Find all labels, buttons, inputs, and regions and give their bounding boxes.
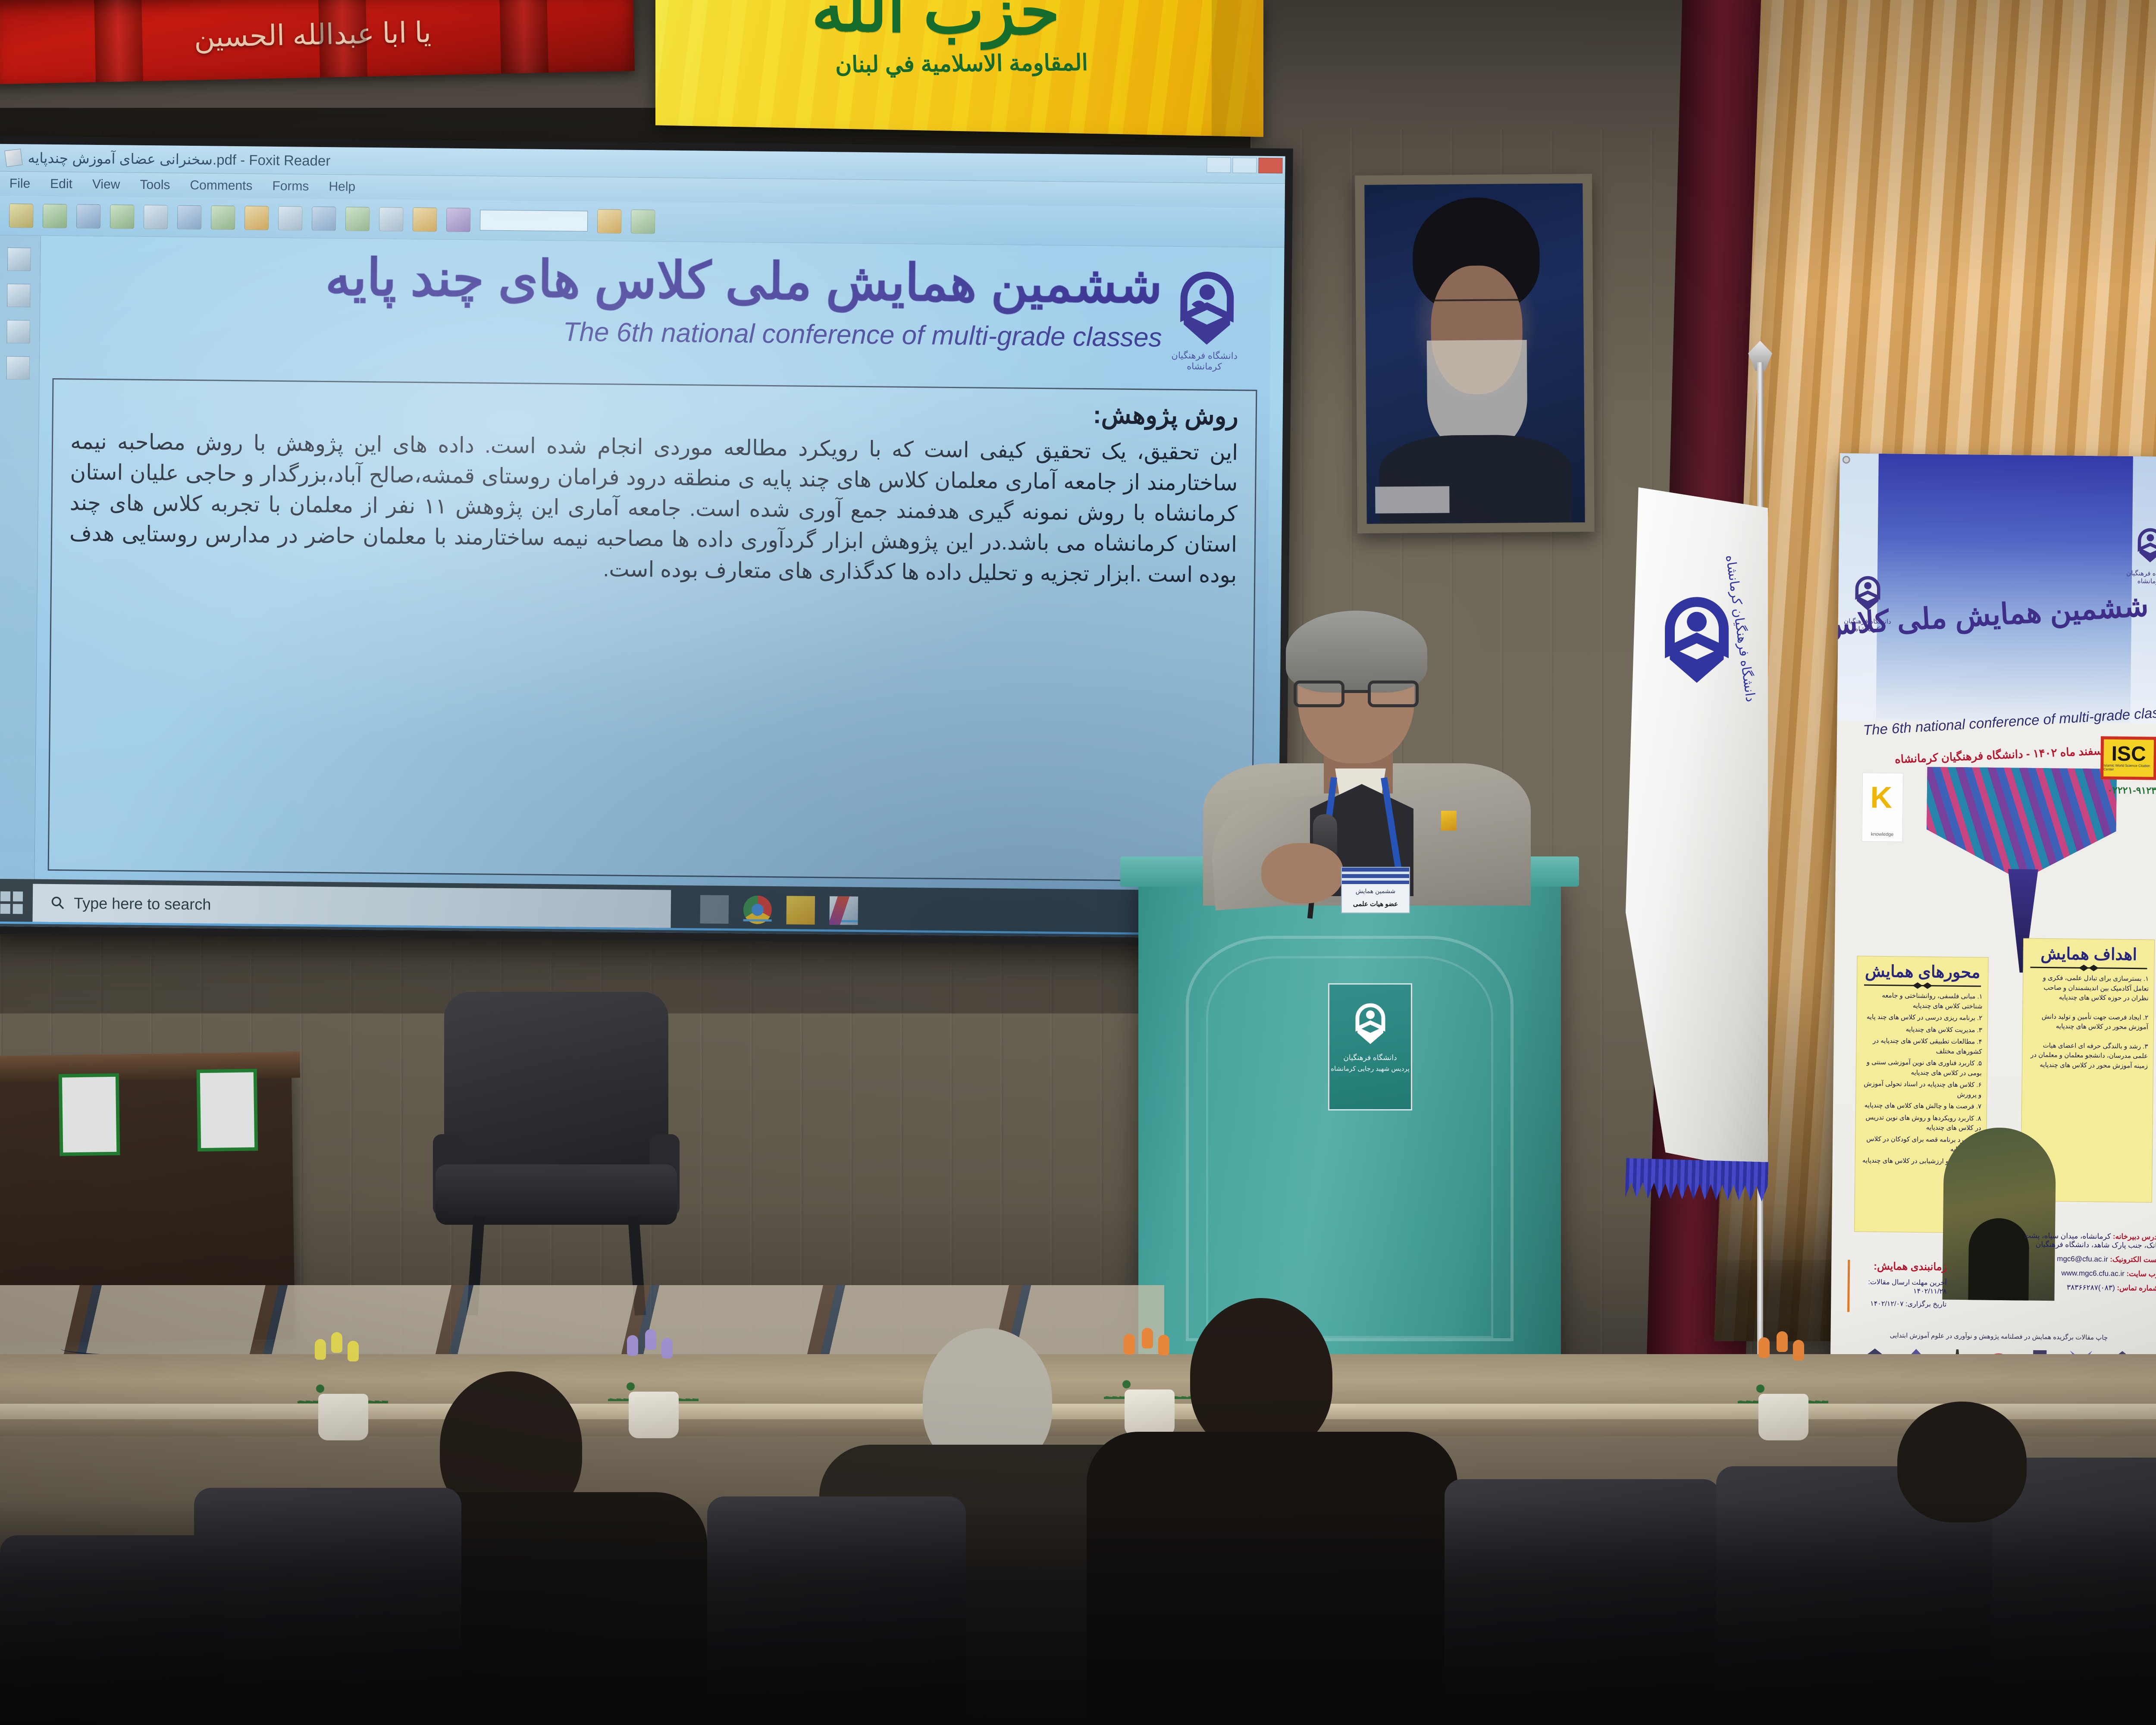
farhangian-logo-icon	[1168, 258, 1246, 351]
glasses-lens-right	[1368, 681, 1419, 707]
conference-banner: دانشگاه فرهنگیان کرمانشاه دانشگاه فرهنگی…	[1830, 453, 2156, 1436]
conference-hall-photo: یا ابا عبدالله الحسین حزب الله المقاومة …	[0, 0, 2156, 1725]
name-placard	[59, 1073, 120, 1156]
list-item: ۸. کاربرد رویکردها و روش های نوین تدریس …	[1861, 1113, 1981, 1133]
bookmark-icon[interactable]	[597, 209, 622, 234]
decorative-plant	[608, 1330, 699, 1438]
app-active-underline	[830, 920, 858, 922]
start-button[interactable]	[0, 888, 26, 917]
badge-header-stripes	[1342, 868, 1409, 884]
podium-plaque: دانشگاه فرهنگیان پردیس شهید رجایی کرمانش…	[1328, 983, 1412, 1110]
speaker-person: ششمین همایش عضو هیات علمی	[1173, 608, 1552, 901]
slide-content-box: روش پژوهش: این تحقیق، یک تحقیق کیفی است …	[48, 378, 1257, 882]
foxit-sidebar[interactable]	[0, 235, 41, 879]
thumbnails-panel-icon[interactable]	[7, 284, 31, 307]
flag-edge-shadow	[1212, 0, 1263, 137]
chrome-icon[interactable]	[743, 895, 772, 924]
email-icon[interactable]	[110, 204, 135, 229]
contact-phone-value: (۰۸۳)۳۸۳۶۶۲۸۷	[2067, 1283, 2115, 1292]
page-number-field[interactable]	[480, 210, 588, 231]
task-view-icon[interactable]	[700, 895, 729, 924]
banner-publication-note: چاپ مقالات برگزیده همایش در فصلنامه پژوه…	[1856, 1331, 2141, 1342]
search-icon: ⚲	[47, 891, 69, 914]
decorative-plant	[1738, 1333, 1828, 1440]
print-icon[interactable]	[76, 204, 101, 229]
plant-buds	[1752, 1331, 1813, 1365]
glasses-bridge	[1344, 690, 1368, 693]
podium-plaque-line1: دانشگاه فرهنگیان	[1343, 1054, 1397, 1062]
rotate-icon[interactable]	[413, 207, 437, 232]
contact-website-row: وب سایت: www.mgc6.cfu.ac.ir	[2017, 1268, 2156, 1278]
list-item: ۲. ایجاد فرصت جهت تأمین و تولید دانش آمو…	[2028, 1012, 2148, 1032]
snapshot-icon[interactable]	[144, 204, 168, 229]
placard-card	[200, 1072, 254, 1148]
save-icon[interactable]	[43, 204, 67, 228]
menu-item-tools[interactable]: Tools	[140, 178, 170, 193]
plant-vase	[1125, 1389, 1175, 1436]
list-item: ۴. مطالعات تطبیقی کلاس های چندپایه در کش…	[1861, 1036, 1982, 1057]
badge-event-label: ششمین همایش	[1342, 888, 1409, 895]
page-layout-icon[interactable]	[379, 207, 404, 232]
window-title: سخنرانی عضای آموزش چندپایه.pdf - Foxit R…	[28, 149, 330, 169]
badge-name: عضو هیات علمی	[1342, 900, 1409, 908]
farhangian-logo-icon	[2132, 521, 2156, 566]
goals-heading: اهداف همایش	[2029, 944, 2149, 965]
hand-tool-icon[interactable]	[177, 205, 202, 229]
plant-buds	[623, 1329, 683, 1363]
foxit-taskbar-icon[interactable]	[829, 896, 858, 925]
list-item: ۵. کاربرد فناوری های نوین آموزشی سنتی و …	[1861, 1058, 1982, 1079]
highlight-icon[interactable]	[244, 206, 269, 230]
search-icon[interactable]	[631, 209, 655, 234]
portrait-caption-plate	[1375, 486, 1449, 514]
isc-sublabel: Islamic World Science Citation Center	[2103, 763, 2153, 772]
select-text-icon[interactable]	[211, 205, 235, 230]
windows-logo-icon	[0, 891, 23, 914]
menu-item-edit[interactable]: Edit	[50, 177, 72, 191]
plant-bud	[1124, 1334, 1135, 1355]
red-banner-fold	[94, 0, 143, 82]
yellow-flag-main-text: حزب الله	[772, 0, 1100, 56]
decorative-plant	[1104, 1328, 1194, 1436]
contact-website-label: وب سایت:	[2126, 1270, 2156, 1278]
page-fit-icon[interactable]	[345, 207, 370, 231]
plant-bud	[315, 1339, 326, 1360]
portrait-image	[1364, 183, 1585, 524]
search-input[interactable]: ⚲ Type here to search	[32, 884, 671, 928]
plant-buds	[1119, 1327, 1179, 1361]
isc-label: ISC	[2111, 745, 2146, 764]
list-item: ۲. برنامه ریزی درسی در کلاس های چند پایه	[1862, 1013, 1982, 1023]
farhangian-logo-icon	[1349, 996, 1392, 1048]
red-banner: یا ابا عبدالله الحسین	[0, 0, 635, 85]
speaker-glasses-icon	[1294, 681, 1419, 707]
audience-seat	[707, 1496, 966, 1725]
plant-vase	[1758, 1394, 1808, 1440]
podium-plaque-line2: پردیس شهید رجایی کرمانشاه	[1331, 1065, 1410, 1073]
audience-seat	[0, 1535, 224, 1725]
contact-phone-row: شماره تماس: (۰۸۳)۳۸۳۶۶۲۸۷	[2017, 1283, 2156, 1292]
search-placeholder: Type here to search	[74, 894, 211, 913]
red-banner-fold	[499, 0, 548, 74]
foxit-app-icon	[4, 148, 23, 167]
pointer-icon[interactable]	[312, 206, 336, 231]
slide-logo-caption: دانشگاه فرهنگیان کرمانشاه	[1159, 350, 1250, 373]
projection-screen: سخنرانی عضای آموزش چندپایه.pdf - Foxit R…	[0, 144, 1285, 939]
red-banner-fold	[318, 0, 367, 78]
banner-students-photo	[1926, 767, 2117, 877]
schedule-heading: زمانبندی همایش:	[1854, 1260, 1947, 1273]
schedule-row: تاریخ برگزاری: ۱۴۰۲/۱۲/۰۷	[1854, 1299, 1946, 1308]
placard-card	[62, 1077, 116, 1153]
taskbar-apps[interactable]	[700, 895, 858, 925]
maximize-button[interactable]	[1232, 157, 1257, 173]
plant-bud	[1142, 1328, 1153, 1349]
attachments-panel-icon[interactable]	[6, 320, 30, 344]
goals-divider	[2030, 967, 2147, 969]
minimize-button[interactable]	[1206, 157, 1231, 173]
chair-seat	[436, 1164, 677, 1225]
plant-bud	[348, 1341, 359, 1361]
slide-heading: روش پژوهش:	[71, 391, 1239, 430]
audience-head	[1190, 1298, 1332, 1453]
list-item: ۶. کلاس های چندپایه در اسناد تحولی آموزش…	[1861, 1079, 1981, 1100]
plant-bud	[661, 1338, 673, 1358]
topics-divider	[1864, 985, 1981, 987]
menu-item-forms[interactable]: Forms	[272, 179, 309, 194]
speaker-name-badge: ششمین همایش عضو هیات علمی	[1341, 867, 1410, 913]
list-item: ۷. فرصت ها و چالش های کلاس های چندپایه	[1861, 1101, 1981, 1112]
framed-portrait	[1355, 174, 1595, 533]
slide-title-en: The 6th national conference of multi-gra…	[563, 317, 1162, 353]
plant-bud	[645, 1329, 656, 1350]
contact-address-label: آدرس دبیرخانه:	[2113, 1233, 2156, 1241]
contact-phone-label: شماره تماس:	[2117, 1284, 2156, 1292]
plant-bud	[1777, 1331, 1788, 1352]
yellow-flag: حزب الله المقاومة الاسلامية في لبنان	[655, 0, 1263, 137]
close-button[interactable]	[1258, 158, 1282, 174]
audience-seat	[1445, 1479, 1720, 1725]
projection-screen-frame: سخنرانی عضای آموزش چندپایه.pdf - Foxit R…	[0, 136, 1293, 947]
list-item: ۱. مبانی فلسفی، روانشناختی و جامعه شناخت…	[1862, 991, 1982, 1012]
plant-vase	[629, 1392, 679, 1438]
audience-seat	[194, 1488, 461, 1725]
portrait-glasses-icon	[1431, 299, 1523, 323]
contact-email-value: mgc6@cfu.ac.ir	[2057, 1255, 2108, 1263]
schedule-block: زمانبندی همایش: آخرین مهلت ارسال مقالات:…	[1847, 1260, 1947, 1313]
audience-head	[1897, 1402, 2027, 1522]
plant-buds	[312, 1331, 373, 1365]
yellow-flag-sub-text: المقاومة الاسلامية في لبنان	[746, 49, 1177, 79]
layers-panel-icon[interactable]	[6, 356, 30, 380]
app-active-underline	[743, 919, 772, 922]
list-item: ۱. بسترسازی برای تبادل علمی، فکری و تعام…	[2028, 973, 2149, 1004]
list-item: ۳. رشد و بالندگی حرفه ای اعضای هیات علمی…	[2028, 1041, 2148, 1071]
schedule-row: آخرین مهلت ارسال مقالات: ۱۴۰۲/۱۱/۲۸	[1854, 1277, 1946, 1295]
isc-logo: ISC Islamic World Science Citation Cente…	[2100, 736, 2156, 780]
folder-icon[interactable]	[786, 896, 815, 925]
name-placard	[197, 1069, 258, 1151]
contact-email-row: پست الکترونیک: mgc6@cfu.ac.ir	[2017, 1254, 2156, 1264]
plant-vase	[318, 1394, 368, 1440]
menu-item-view[interactable]: View	[92, 177, 120, 192]
plant-bud	[331, 1332, 342, 1353]
knowledge-badge-caption: knowledge	[1862, 832, 1902, 837]
menu-item-help[interactable]: Help	[329, 179, 355, 194]
isc-number: ۰۲۲۲۱-۹۱۲۳۲	[2107, 784, 2156, 796]
menu-item-comments[interactable]: Comments	[190, 178, 252, 193]
zoom-tool-icon[interactable]	[278, 206, 303, 230]
plant-bud	[1758, 1337, 1770, 1358]
plant-bud	[1793, 1340, 1804, 1361]
open-file-icon[interactable]	[9, 203, 34, 228]
bookmarks-panel-icon[interactable]	[7, 248, 31, 271]
chair-backrest	[444, 992, 668, 1177]
audience-body	[1087, 1432, 1457, 1725]
banner-grommet	[1843, 456, 1850, 464]
stage-armchair	[436, 992, 677, 1328]
contact-address-row: آدرس دبیرخانه: کرمانشاه، میدان سپاه، پشت…	[2017, 1231, 2156, 1250]
list-item: ۳. مدیریت کلاس های چندپایه	[1862, 1024, 1982, 1035]
pdf-page: ششمین همایش ملی کلاس های چند پایه The 6t…	[34, 236, 1271, 891]
menu-item-file[interactable]: File	[9, 176, 31, 191]
window-controls[interactable]	[1206, 157, 1282, 174]
contact-website-value: www.mgc6.cfu.ac.ir	[2061, 1269, 2125, 1278]
knowledge-badge-mark: K	[1870, 780, 1892, 815]
topics-heading: محورهای همایش	[1862, 962, 1983, 982]
signature-icon[interactable]	[446, 207, 471, 232]
speaker-lapel-pin	[1441, 811, 1457, 831]
contact-email-label: پست الکترونیک:	[2110, 1255, 2156, 1264]
slide-header: ششمین همایش ملی کلاس های چند پایه The 6t…	[58, 244, 1253, 389]
speaker-hand	[1261, 843, 1343, 903]
contact-block: آدرس دبیرخانه: کرمانشاه، میدان سپاه، پشت…	[2016, 1231, 2156, 1298]
banner-logo-caption-right: دانشگاه فرهنگیان کرمانشاه	[2124, 569, 2156, 585]
slide-title-fa: ششمین همایش ملی کلاس های چند پایه	[325, 247, 1163, 315]
slide-body-text: این تحقیق، یک تحقیق کیفی است که با رویکر…	[69, 426, 1238, 590]
plant-bud	[627, 1335, 638, 1356]
decorative-plant	[298, 1333, 388, 1440]
plant-bud	[1158, 1335, 1169, 1355]
glasses-lens-left	[1294, 681, 1344, 707]
knowledge-badge: K knowledge	[1861, 773, 1903, 842]
